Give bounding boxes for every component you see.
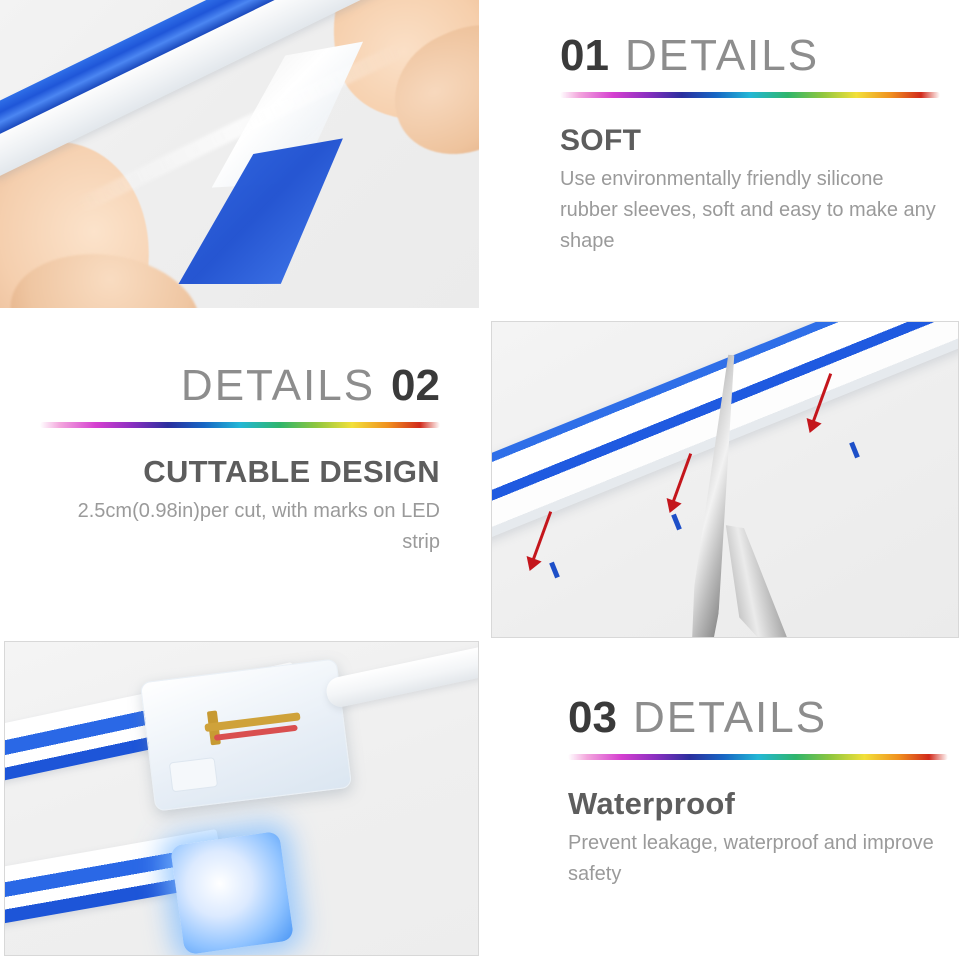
connector-slot [169,757,218,792]
rainbow-divider [560,92,940,98]
section-soft-title: SOFT [560,124,940,158]
section-soft-description: Use environmentally friendly silicone ru… [560,164,940,257]
glowing-end-cap [170,831,294,955]
section-cuttable-text: DETAILS 02 CUTTABLE DESIGN 2.5cm(0.98in)… [40,364,440,558]
rainbow-divider [568,754,948,760]
rainbow-divider [40,422,440,428]
section-cuttable-description: 2.5cm(0.98in)per cut, with marks on LED … [40,496,440,558]
section-cuttable-details-label: DETAILS [181,364,375,408]
section-waterproof-description: Prevent leakage, waterproof and improve … [568,828,948,890]
section-soft-text: 01 DETAILS SOFT Use environmentally frie… [560,34,940,257]
section-cuttable-title: CUTTABLE DESIGN [40,454,440,490]
section-waterproof-heading: 03 DETAILS [568,696,948,740]
section-waterproof-text: 03 DETAILS Waterproof Prevent leakage, w… [568,696,948,890]
section-cuttable-heading: DETAILS 02 [40,364,440,408]
section-waterproof-number: 03 [568,696,617,740]
section-waterproof-title: Waterproof [568,786,948,822]
photo-cuttable-scissors [491,321,959,638]
photo-waterproof-connector [4,641,479,956]
section-waterproof-details-label: DETAILS [633,696,827,740]
photo-soft-strip [0,0,479,308]
section-cuttable-number: 02 [391,364,440,408]
section-soft-number: 01 [560,34,609,78]
section-soft-heading: 01 DETAILS [560,34,940,78]
section-soft-details-label: DETAILS [625,34,819,78]
waterproof-connector [140,658,352,811]
